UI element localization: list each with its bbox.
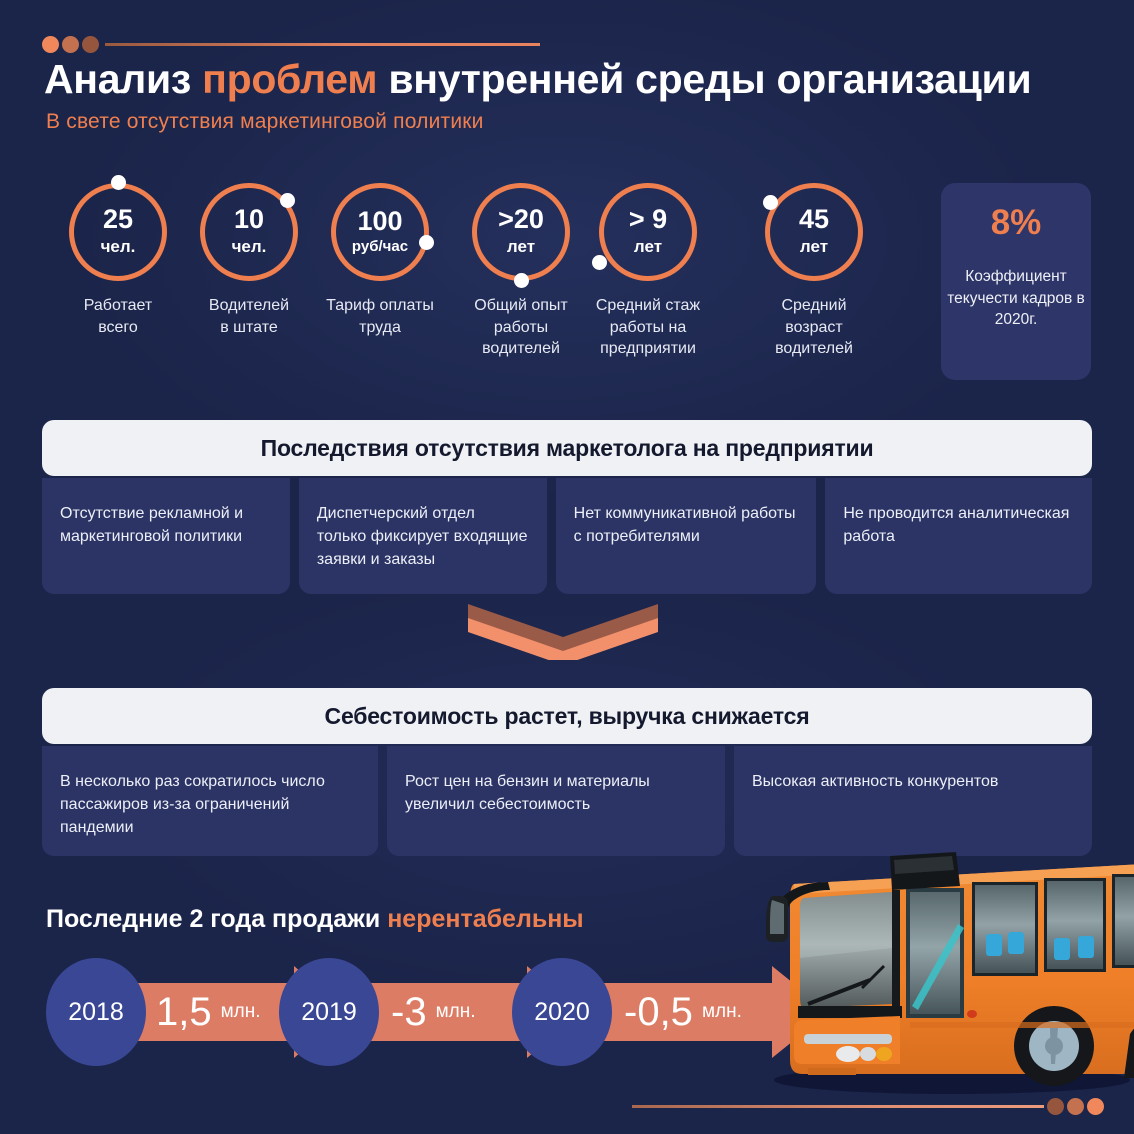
stat-value-0: 25 — [103, 206, 133, 233]
section1-card-0: Отсутствие рекламной и маркетинговой пол… — [42, 478, 290, 594]
turnover-value: 8% — [941, 205, 1091, 240]
turnover-caption: Коэффициент текучести кадров в 2020г. — [941, 266, 1091, 331]
stat-unit-4: лет — [634, 236, 662, 257]
timeline-value-1-unit: млн. — [436, 1001, 476, 1023]
stat-item-1: 10 чел. Водителей в штате — [173, 183, 325, 338]
section2-card-1: Рост цен на бензин и материалы увеличил … — [387, 746, 725, 856]
stat-item-4: > 9 лет Средний стаж работы на предприят… — [572, 183, 724, 360]
footer-dot-2-icon — [1067, 1098, 1084, 1115]
stat-label-1: Водителей в штате — [173, 295, 325, 338]
stat-value-4: > 9 — [629, 206, 667, 233]
infographic-page: Анализ проблем внутренней среды организа… — [0, 0, 1134, 1134]
timeline-value-2-unit: млн. — [702, 1001, 742, 1023]
stat-value-3: >20 — [498, 206, 544, 233]
stat-ring-1: 10 чел. — [200, 183, 298, 281]
timeline-year-1: 2019 — [279, 958, 379, 1066]
section1-card-1: Диспетчерский отдел только фиксирует вхо… — [299, 478, 547, 594]
timeline-year-2: 2020 — [512, 958, 612, 1066]
timeline-value-0-unit: млн. — [221, 1001, 261, 1023]
footer-rule — [632, 1105, 1044, 1108]
stat-value-5: 45 — [799, 206, 829, 233]
stat-label-5: Средний возраст водителей — [738, 295, 890, 360]
stat-label-2: Тариф оплаты труда — [304, 295, 456, 338]
page-title-part1: Анализ — [44, 56, 202, 102]
stat-ring-5: 45 лет — [765, 183, 863, 281]
stat-item-2: 100 руб/час Тариф оплаты труда — [304, 183, 456, 338]
timeline-title-part1: Последние 2 года продажи — [46, 905, 387, 933]
header-dot-1-icon — [42, 36, 59, 53]
stat-ring-0: 25 чел. — [69, 183, 167, 281]
timeline-value-2: -0,5 млн. — [624, 958, 742, 1066]
timeline-value-1: -3 млн. — [391, 958, 476, 1066]
stat-item-5: 45 лет Средний возраст водителей — [738, 183, 890, 360]
sales-timeline: 2018 2019 2020 1,5 млн. -3 млн. -0,5 млн… — [46, 958, 836, 1066]
footer-decoration — [632, 1098, 1104, 1115]
section1-heading: Последствия отсутствия маркетолога на пр… — [42, 420, 1092, 476]
page-subtitle: В свете отсутствия маркетинговой политик… — [46, 110, 484, 134]
stat-label-0: Работает всего — [42, 295, 194, 338]
stat-unit-5: лет — [800, 236, 828, 257]
section-cost: Себестоимость растет, выручка снижается … — [42, 688, 1092, 856]
timeline-value-1-number: -3 — [391, 990, 427, 1035]
header-dot-2-icon — [62, 36, 79, 53]
stat-label-4: Средний стаж работы на предприятии — [572, 295, 724, 360]
page-title-part2: внутренней среды организации — [377, 56, 1031, 102]
footer-dot-1-icon — [1047, 1098, 1064, 1115]
stat-ring-4: > 9 лет — [599, 183, 697, 281]
page-title: Анализ проблем внутренней среды организа… — [44, 56, 1031, 103]
stat-unit-3: лет — [507, 236, 535, 257]
footer-dot-3-icon — [1087, 1098, 1104, 1115]
header-rule — [105, 43, 540, 46]
stat-ring-2: 100 руб/час — [331, 183, 429, 281]
stat-unit-1: чел. — [232, 236, 267, 257]
timeline-title: Последние 2 года продажи нерентабельны — [46, 905, 584, 934]
timeline-year-0: 2018 — [46, 958, 146, 1066]
stat-value-1: 10 — [234, 206, 264, 233]
header-decoration — [42, 36, 540, 53]
stat-value-2: 100 — [357, 208, 402, 235]
timeline-value-2-number: -0,5 — [624, 990, 693, 1035]
stats-row: 25 чел. Работает всего 10 чел. Водителей… — [42, 183, 1092, 383]
section2-card-0: В несколько раз сократилось число пассаж… — [42, 746, 378, 856]
stat-ring-3: >20 лет — [472, 183, 570, 281]
stat-unit-2: руб/час — [352, 238, 408, 257]
turnover-panel: 8% Коэффициент текучести кадров в 2020г. — [941, 183, 1091, 380]
down-chevron-icon — [468, 604, 658, 660]
timeline-title-highlight: нерентабельны — [387, 905, 583, 933]
section1-card-3: Не проводится аналитическая работа — [825, 478, 1092, 594]
stat-item-0: 25 чел. Работает всего — [42, 183, 194, 338]
timeline-value-0-number: 1,5 — [156, 990, 212, 1035]
section-consequences: Последствия отсутствия маркетолога на пр… — [42, 420, 1092, 594]
page-title-highlight: проблем — [202, 56, 377, 102]
section1-cards: Отсутствие рекламной и маркетинговой пол… — [42, 478, 1092, 594]
stat-unit-0: чел. — [101, 236, 136, 257]
header-dot-3-icon — [82, 36, 99, 53]
bus-photo-icon — [742, 838, 1134, 1100]
timeline-value-0: 1,5 млн. — [156, 958, 261, 1066]
section1-card-2: Нет коммуникативной работы с потребителя… — [556, 478, 817, 594]
section2-heading: Себестоимость растет, выручка снижается — [42, 688, 1092, 744]
